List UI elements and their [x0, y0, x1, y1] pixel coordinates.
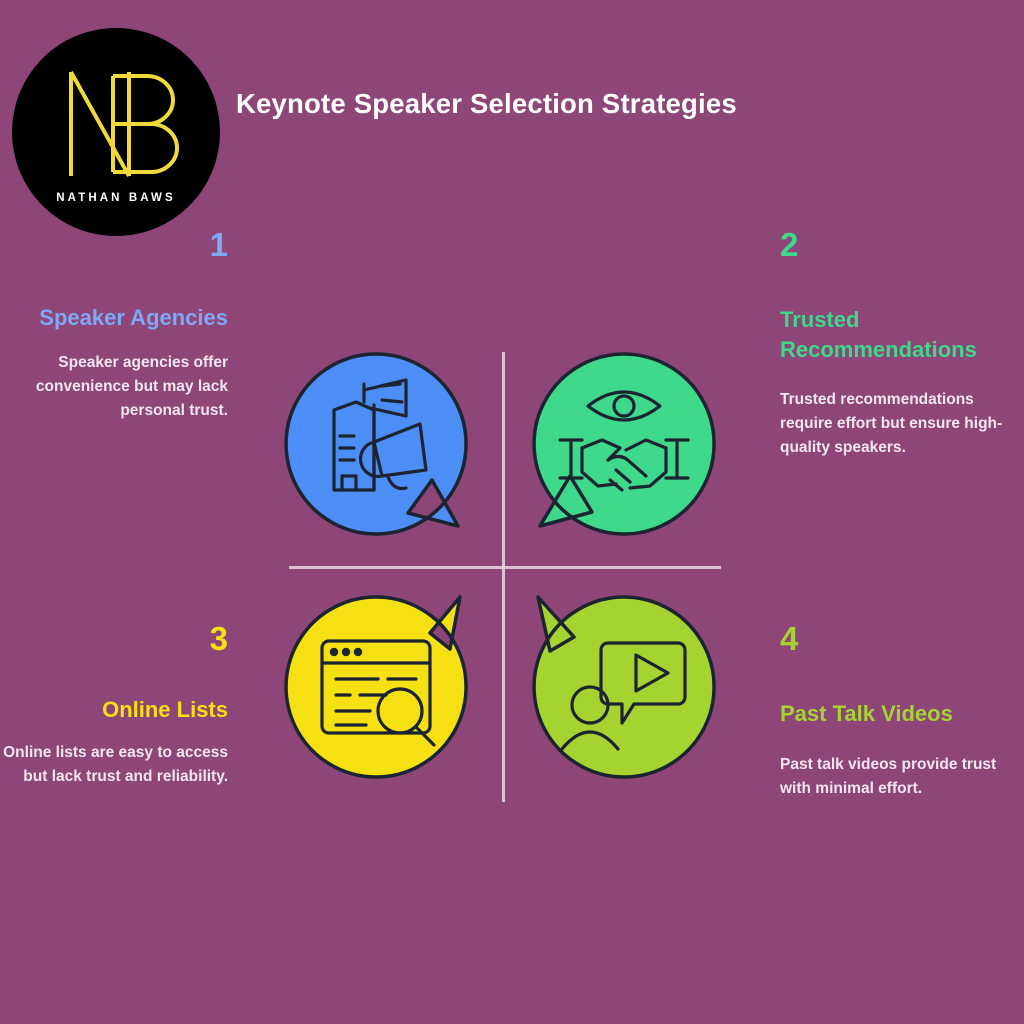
quadrant-number-4: 4	[780, 622, 1008, 655]
quadrant-text-1: 1 Speaker Agencies Speaker agencies offe…	[0, 228, 228, 423]
megaphone-buildings-icon	[282, 350, 470, 538]
quadrant-heading-3: Online Lists	[0, 695, 228, 725]
infographic-canvas: NATHAN BAWS Keynote Speaker Selection St…	[0, 0, 1024, 1024]
quadrant-body-1: Speaker agencies offer convenience but m…	[0, 351, 228, 423]
nb-monogram-icon	[51, 64, 181, 184]
quadrant-number-1: 1	[0, 228, 228, 261]
quadrant-heading-4: Past Talk Videos	[780, 699, 1008, 729]
bubble-past-talk-videos[interactable]	[530, 593, 718, 781]
quadrant-heading-2: Trusted Recommendations	[780, 305, 1008, 366]
quadrant-body-2: Trusted recommendations require effort b…	[780, 388, 1008, 460]
quadrant-text-2: 2 Trusted Recommendations Trusted recomm…	[780, 228, 1008, 460]
person-video-play-icon	[530, 593, 718, 781]
page-title: Keynote Speaker Selection Strategies	[236, 88, 737, 120]
divider-horizontal	[289, 566, 721, 569]
quadrant-text-3: 3 Online Lists Online lists are easy to …	[0, 622, 228, 789]
quadrant-heading-1: Speaker Agencies	[0, 303, 228, 333]
browser-search-icon	[282, 593, 470, 781]
eye-handshake-icon	[530, 350, 718, 538]
bubble-speaker-agencies[interactable]	[282, 350, 470, 538]
quadrant-body-3: Online lists are easy to access but lack…	[0, 741, 228, 789]
bubble-trusted-recommendations[interactable]	[530, 350, 718, 538]
quadrant-body-4: Past talk videos provide trust with mini…	[780, 753, 1008, 801]
quadrant-number-2: 2	[780, 228, 1008, 261]
logo-wordmark: NATHAN BAWS	[56, 192, 176, 204]
quadrant-number-3: 3	[0, 622, 228, 655]
divider-vertical	[502, 352, 505, 802]
bubble-online-lists[interactable]	[282, 593, 470, 781]
quadrant-text-4: 4 Past Talk Videos Past talk videos prov…	[780, 622, 1008, 801]
brand-logo: NATHAN BAWS	[12, 28, 220, 236]
quadrant-graphic	[272, 340, 732, 800]
